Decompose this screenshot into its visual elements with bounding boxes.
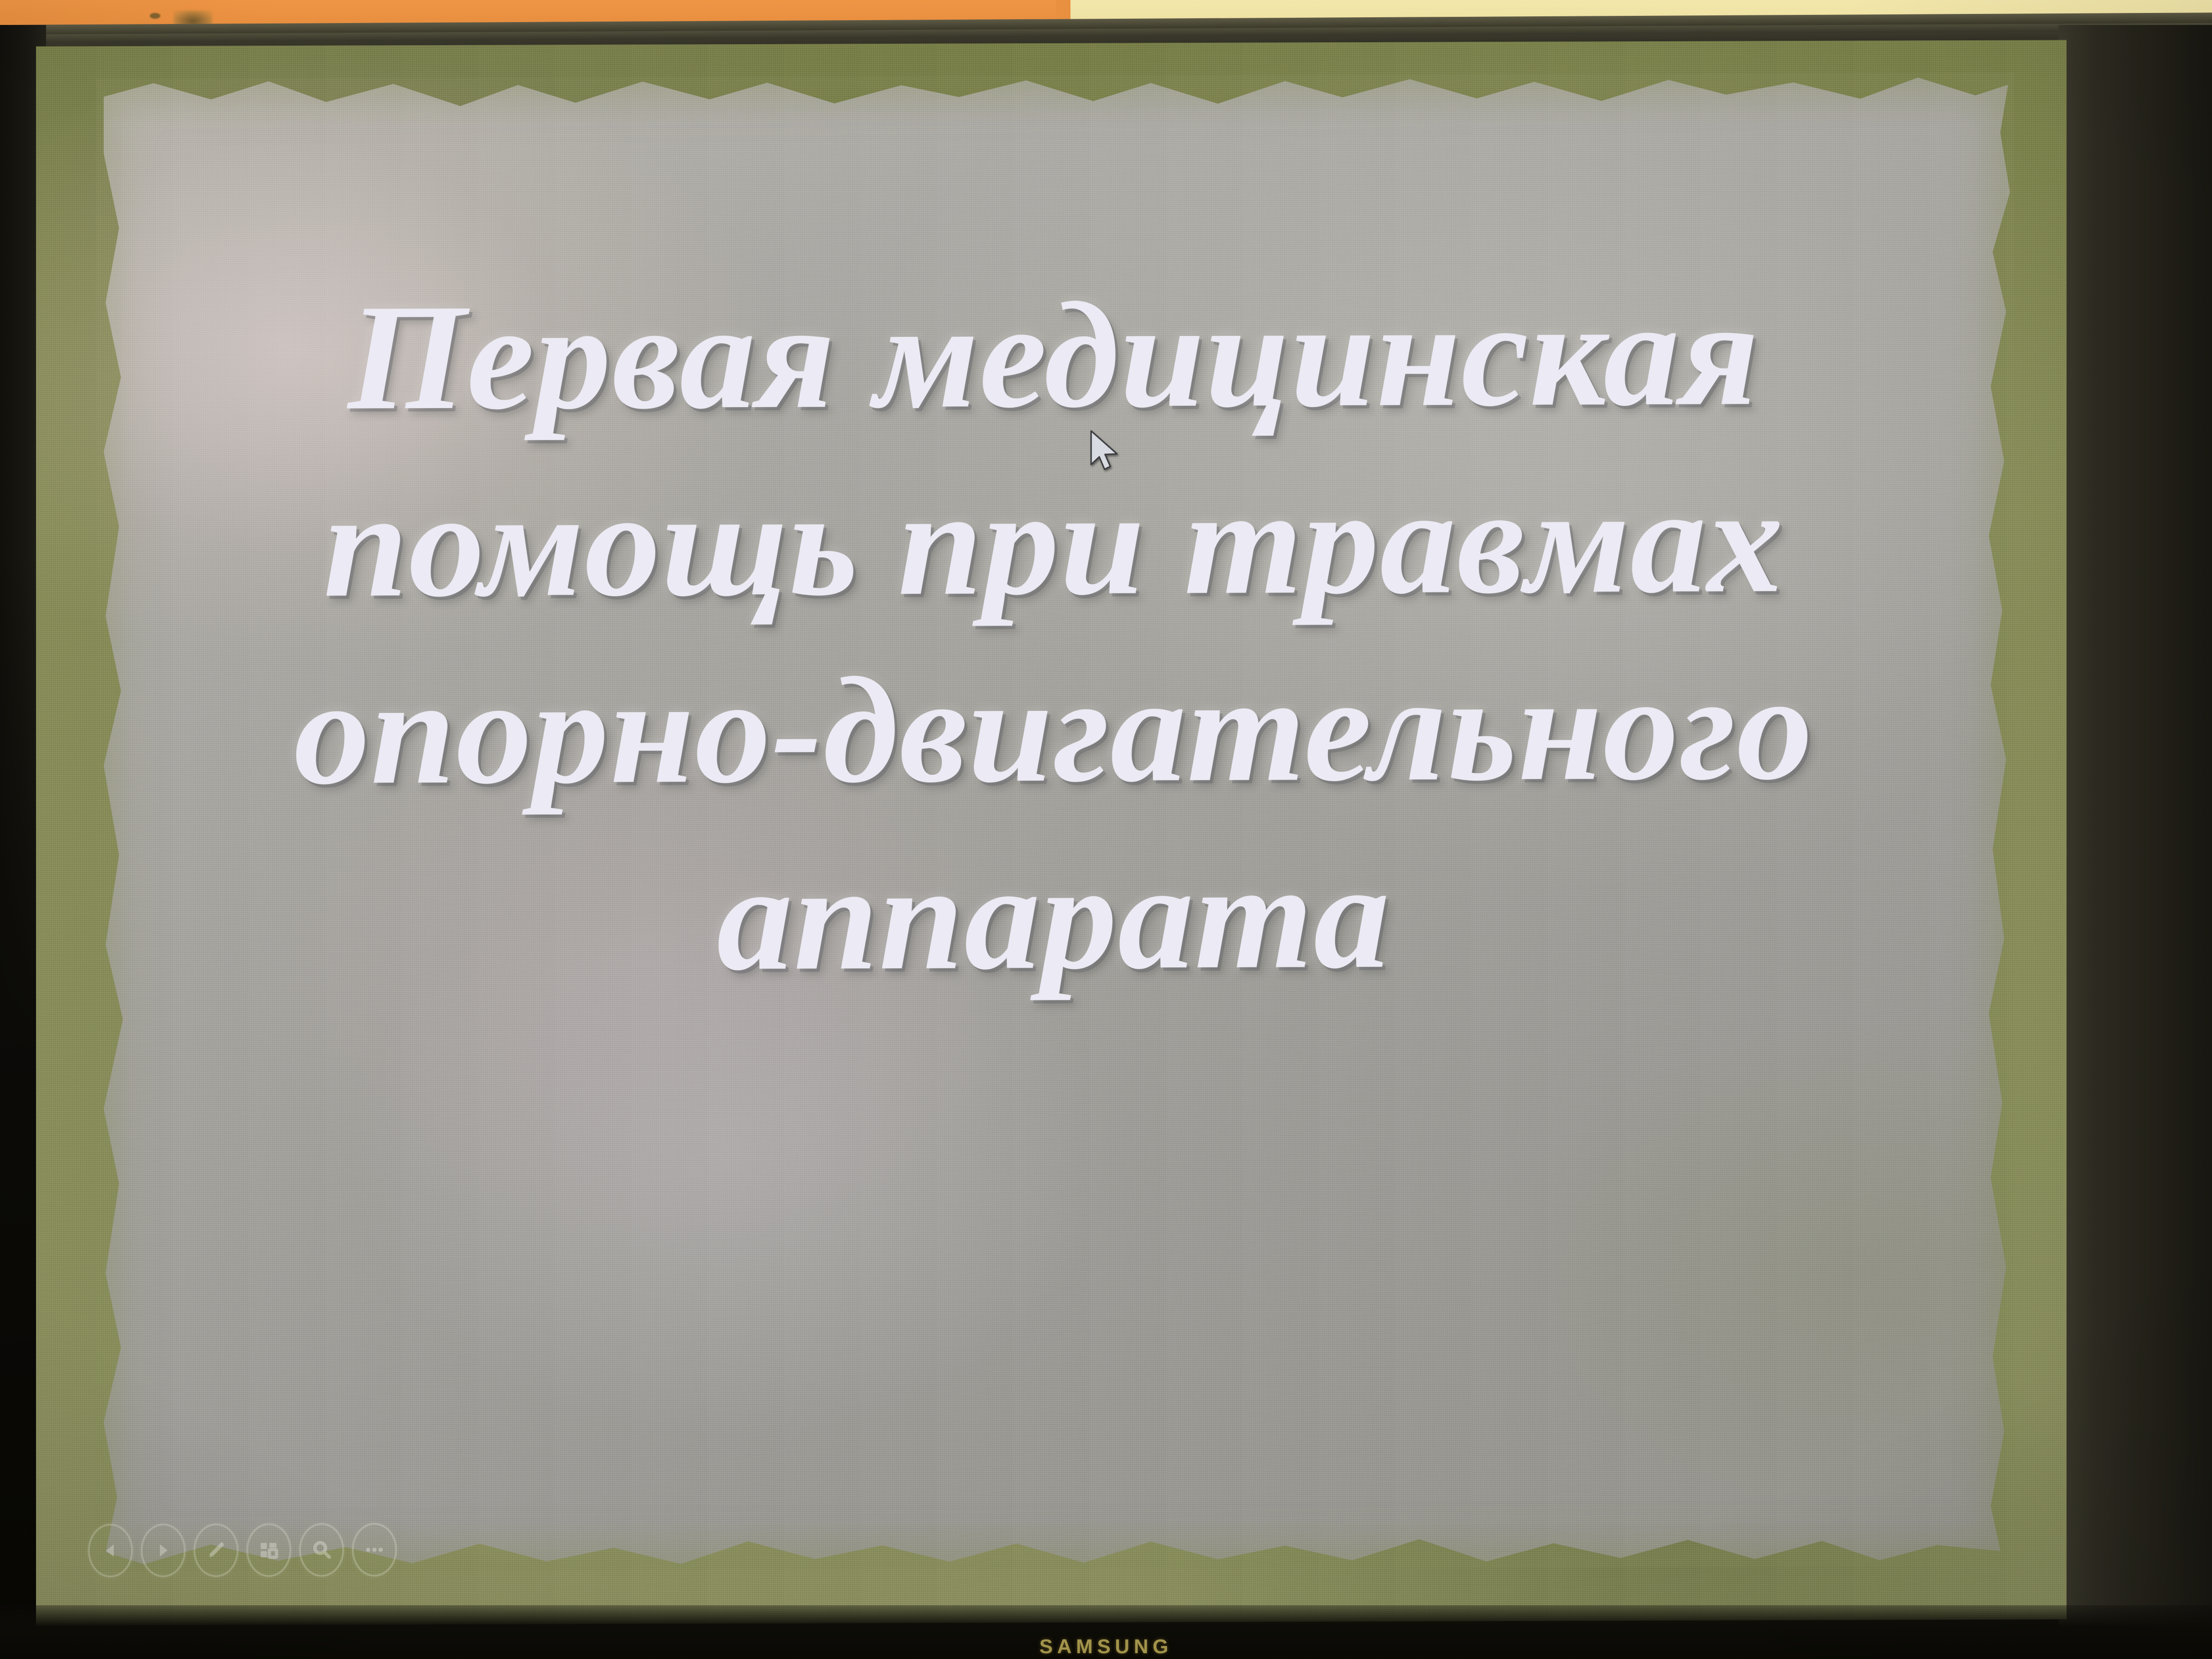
wall-spot-icon	[150, 13, 160, 19]
title-line-3: опорно-двигательного	[180, 633, 1927, 826]
slideshow-controls[interactable]	[88, 1523, 397, 1577]
triangle-left-icon	[101, 1541, 120, 1560]
zoom-button[interactable]	[299, 1523, 344, 1577]
pen-icon	[205, 1539, 227, 1561]
all-slides-button[interactable]	[246, 1523, 291, 1577]
grid-slides-icon	[258, 1539, 280, 1561]
pen-tools-button[interactable]	[193, 1523, 239, 1577]
title-line-1: Первая медицинская	[180, 259, 1927, 451]
photographed-screen-scene: Первая медицинская помощь при травмах оп…	[0, 0, 2212, 1659]
ellipsis-icon	[364, 1545, 385, 1554]
presentation-slide[interactable]: Первая медицинская помощь при травмах оп…	[36, 40, 2067, 1625]
next-slide-button[interactable]	[141, 1524, 186, 1577]
title-line-2: помощь при травмах	[180, 446, 1927, 638]
previous-slide-button[interactable]	[88, 1524, 133, 1577]
title-line-4: аппарата	[180, 820, 1927, 1013]
slide-title: Первая медицинская помощь при травмах оп…	[180, 259, 1927, 1013]
triangle-right-icon	[154, 1541, 173, 1560]
magnifier-icon	[311, 1539, 332, 1561]
bezel-right-column	[2058, 25, 2212, 1659]
brand-logo: SAMSUNG	[0, 1635, 2212, 1658]
more-options-button[interactable]	[352, 1523, 397, 1576]
arrow-cursor-icon	[1090, 430, 1120, 471]
